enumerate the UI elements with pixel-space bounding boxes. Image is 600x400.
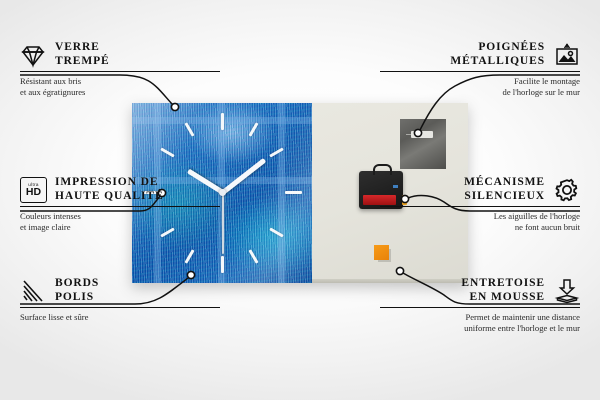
foam-spacer-icon <box>554 278 580 304</box>
clock-tick <box>160 147 174 157</box>
feature-subtitle: Permet de maintenir une distanceuniforme… <box>380 312 580 333</box>
feature-subtitle: Les aiguilles de l'horlogene font aucun … <box>380 211 580 232</box>
feature-verre-trempe: VERRETREMPÉ Résistant aux briset aux égr… <box>20 41 220 98</box>
clock-center-pin <box>219 189 226 196</box>
gear-icon <box>554 177 580 203</box>
polished-edge-icon <box>20 278 46 304</box>
feature-divider <box>380 307 580 308</box>
feature-impression-hd: ultra HD IMPRESSION DEHAUTE QUALITÉ Coul… <box>20 176 220 233</box>
metal-handle-plate <box>400 119 446 169</box>
feature-divider <box>380 71 580 72</box>
feature-mecanisme-silencieux: MÉCANISMESILENCIEUX Les aiguilles de l'h… <box>380 176 580 233</box>
mechanism-hanger-loop <box>373 164 392 175</box>
feature-header: VERRETREMPÉ <box>20 41 220 68</box>
feature-entretoise-mousse: ENTRETOISEEN MOUSSE Permet de maintenir … <box>380 277 580 334</box>
feature-header: BORDSPOLIS <box>20 277 220 304</box>
diamond-icon <box>20 42 46 68</box>
feature-header: ultra HD IMPRESSION DEHAUTE QUALITÉ <box>20 176 220 203</box>
feature-poignees-metalliques: POIGNÉESMÉTALLIQUES Facilite le montaged… <box>380 41 580 98</box>
clock-tick <box>248 122 258 136</box>
feature-subtitle: Surface lisse et sûre <box>20 312 220 323</box>
picture-frame-icon <box>554 42 580 68</box>
handle-slot <box>411 131 433 138</box>
feature-title: VERRETREMPÉ <box>55 41 110 68</box>
ultra-hd-icon-large-label: HD <box>26 187 41 198</box>
clock-tick <box>221 256 224 273</box>
feature-subtitle: Résistant aux briset aux égratignures <box>20 76 220 97</box>
grid-line-vertical <box>278 103 285 283</box>
clock-tick <box>221 113 224 130</box>
feature-divider <box>20 307 220 308</box>
feature-divider <box>380 206 580 207</box>
clock-second-hand <box>222 192 224 254</box>
feature-bords-polis: BORDSPOLIS Surface lisse et sûre <box>20 277 220 323</box>
feature-divider <box>20 206 220 207</box>
infographic-canvas: VERRETREMPÉ Résistant aux briset aux égr… <box>0 0 600 400</box>
clock-tick <box>285 191 302 194</box>
feature-title: POIGNÉESMÉTALLIQUES <box>450 41 545 68</box>
foam-spacer <box>374 245 389 260</box>
feature-header: POIGNÉESMÉTALLIQUES <box>380 41 580 68</box>
feature-subtitle: Facilite le montagede l'horloge sur le m… <box>380 76 580 97</box>
feature-header: ENTRETOISEEN MOUSSE <box>380 277 580 304</box>
feature-title: BORDSPOLIS <box>55 277 99 304</box>
feature-title: MÉCANISMESILENCIEUX <box>464 176 545 203</box>
clock-tick <box>248 249 258 263</box>
feature-subtitle: Couleurs intenseset image claire <box>20 211 220 232</box>
feature-divider <box>20 71 220 72</box>
feature-header: MÉCANISMESILENCIEUX <box>380 176 580 203</box>
clock-tick <box>184 249 194 263</box>
feature-title: IMPRESSION DEHAUTE QUALITÉ <box>55 176 164 203</box>
clock-tick <box>184 122 194 136</box>
ultra-hd-icon: ultra HD <box>20 177 46 203</box>
feature-title: ENTRETOISEEN MOUSSE <box>461 277 545 304</box>
